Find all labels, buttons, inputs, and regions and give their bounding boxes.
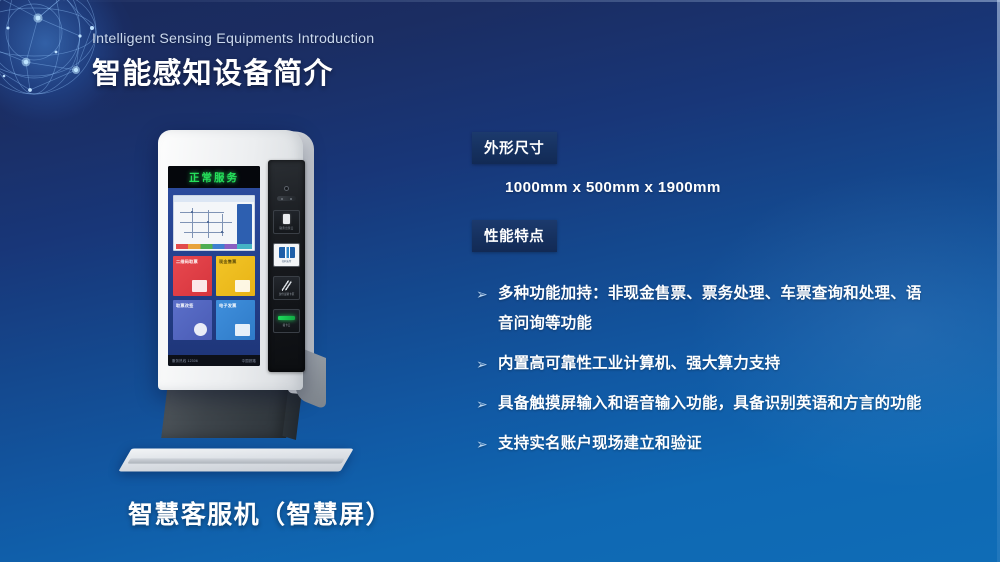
chevron-right-icon: ➢ [476,279,488,309]
features-list: ➢ 多种功能加持：非现金售票、票务处理、车票查询和处理、语音问询等功能 ➢ 内置… [472,279,932,459]
service-tile-label: 现金售票 [219,259,252,265]
screen-footer-right: 中国铁路 [242,358,256,363]
list-item-label: 内置高可靠性工业计算机、强大算力支持 [498,355,780,372]
slide-eyebrow-english: Intelligent Sensing Equipments Introduct… [92,31,374,47]
ticket-icon [192,280,207,292]
list-item: ➢ 支持实名账户现场建立和验证 [472,429,932,459]
slide-canvas: Intelligent Sensing Equipments Introduct… [0,0,1000,562]
map-line [180,212,224,213]
ticket-slot-label: 取票出票口 [280,226,294,230]
led-status-banner: 正常服务 [168,166,260,188]
list-item-label: 支持实名账户现场建立和验证 [498,435,702,452]
route-map-card[interactable] [173,195,255,251]
nfc-reader-label: 身份证刷卡区 [279,292,295,296]
list-item: ➢ 内置高可靠性工业计算机、强大算力支持 [472,349,932,379]
cash-icon [235,280,250,292]
list-item-label: 具备触摸屏输入和语音输入功能，具备识别英语和方言的功能 [498,395,922,412]
list-item: ➢ 多种功能加持：非现金售票、票务处理、车票查询和处理、语音问询等功能 [472,279,932,339]
dimensions-heading-badge: 外形尺寸 [472,132,557,164]
service-tile-grid: 二维码取票 现金售票 取票改签 电子发票 [173,256,255,340]
service-tile[interactable]: 电子发票 [216,300,255,340]
device-caption: 智慧客服机（智慧屏） [110,495,410,531]
chevron-right-icon: ➢ [476,389,488,419]
card-slot-led-icon [278,316,295,320]
top-edge-highlight [0,0,1000,2]
map-color-legend [176,244,252,249]
slide-header: Intelligent Sensing Equipments Introduct… [92,31,374,92]
dimensions-value: 1000mm x 500mm x 1900mm [505,179,932,196]
ticket-slot-module[interactable]: 取票出票口 [273,210,300,234]
led-status-text: 正常服务 [189,170,239,185]
map-line [184,232,224,233]
qr-code-icon [279,247,295,258]
service-tile-label: 取票改签 [176,303,209,309]
map-card-header [174,196,254,202]
map-node [221,231,223,233]
features-heading-badge: 性能特点 [472,220,557,252]
qr-display-label: 扫码支付 [282,259,292,263]
sensor-dot-icon [290,198,292,200]
sensor-bar-icon [277,196,296,201]
map-line [180,222,232,223]
list-item: ➢ 具备触摸屏输入和语音输入功能，具备识别英语和方言的功能 [472,389,932,419]
screen-interface: 二维码取票 现金售票 取票改签 电子发票 [168,188,260,366]
page-title: 智能感知设备简介 [92,50,374,92]
features-section: 性能特点 [472,220,932,252]
service-tile[interactable]: 二维码取票 [173,256,212,296]
kiosk-illustration: 正常服务 [110,110,410,500]
card-reader-label: 插卡口 [283,323,291,327]
nfc-wave-icon [280,279,293,290]
service-tile[interactable]: 取票改签 [173,300,212,340]
map-node [207,221,209,223]
peripheral-module-strip: 取票出票口 扫码支付 身份证刷卡区 插卡口 [268,160,305,372]
service-tile-label: 电子发票 [219,303,252,309]
camera-icon [284,186,289,191]
list-item-label: 多种功能加持：非现金售票、票务处理、车票查询和处理、语音问询等功能 [498,285,922,332]
kiosk-body: 正常服务 [158,130,303,390]
chevron-right-icon: ➢ [476,349,488,379]
service-tile[interactable]: 现金售票 [216,256,255,296]
qr-display-module[interactable]: 扫码支付 [273,243,300,267]
chevron-right-icon: ➢ [476,429,488,459]
screen-footer-bar: 服务热线 12306 中国铁路 [168,355,260,366]
screen-footer-left: 服务热线 12306 [172,358,198,363]
map-line [208,210,209,238]
service-tile-label: 二维码取票 [176,259,209,265]
dimensions-section: 外形尺寸 1000mm x 500mm x 1900mm [472,132,932,196]
ticket-slot-icon [283,214,290,224]
map-node [191,211,193,213]
exchange-icon [194,323,207,336]
map-legend-panel [237,204,252,248]
platform-edge [127,458,344,463]
sensor-dot-icon [281,198,283,200]
content-column: 外形尺寸 1000mm x 500mm x 1900mm 性能特点 ➢ 多种功能… [472,132,932,469]
kiosk-touchscreen[interactable]: 正常服务 [168,166,260,366]
card-reader-module[interactable]: 插卡口 [273,309,300,333]
nfc-reader-module[interactable]: 身份证刷卡区 [273,276,300,300]
invoice-icon [235,324,250,336]
